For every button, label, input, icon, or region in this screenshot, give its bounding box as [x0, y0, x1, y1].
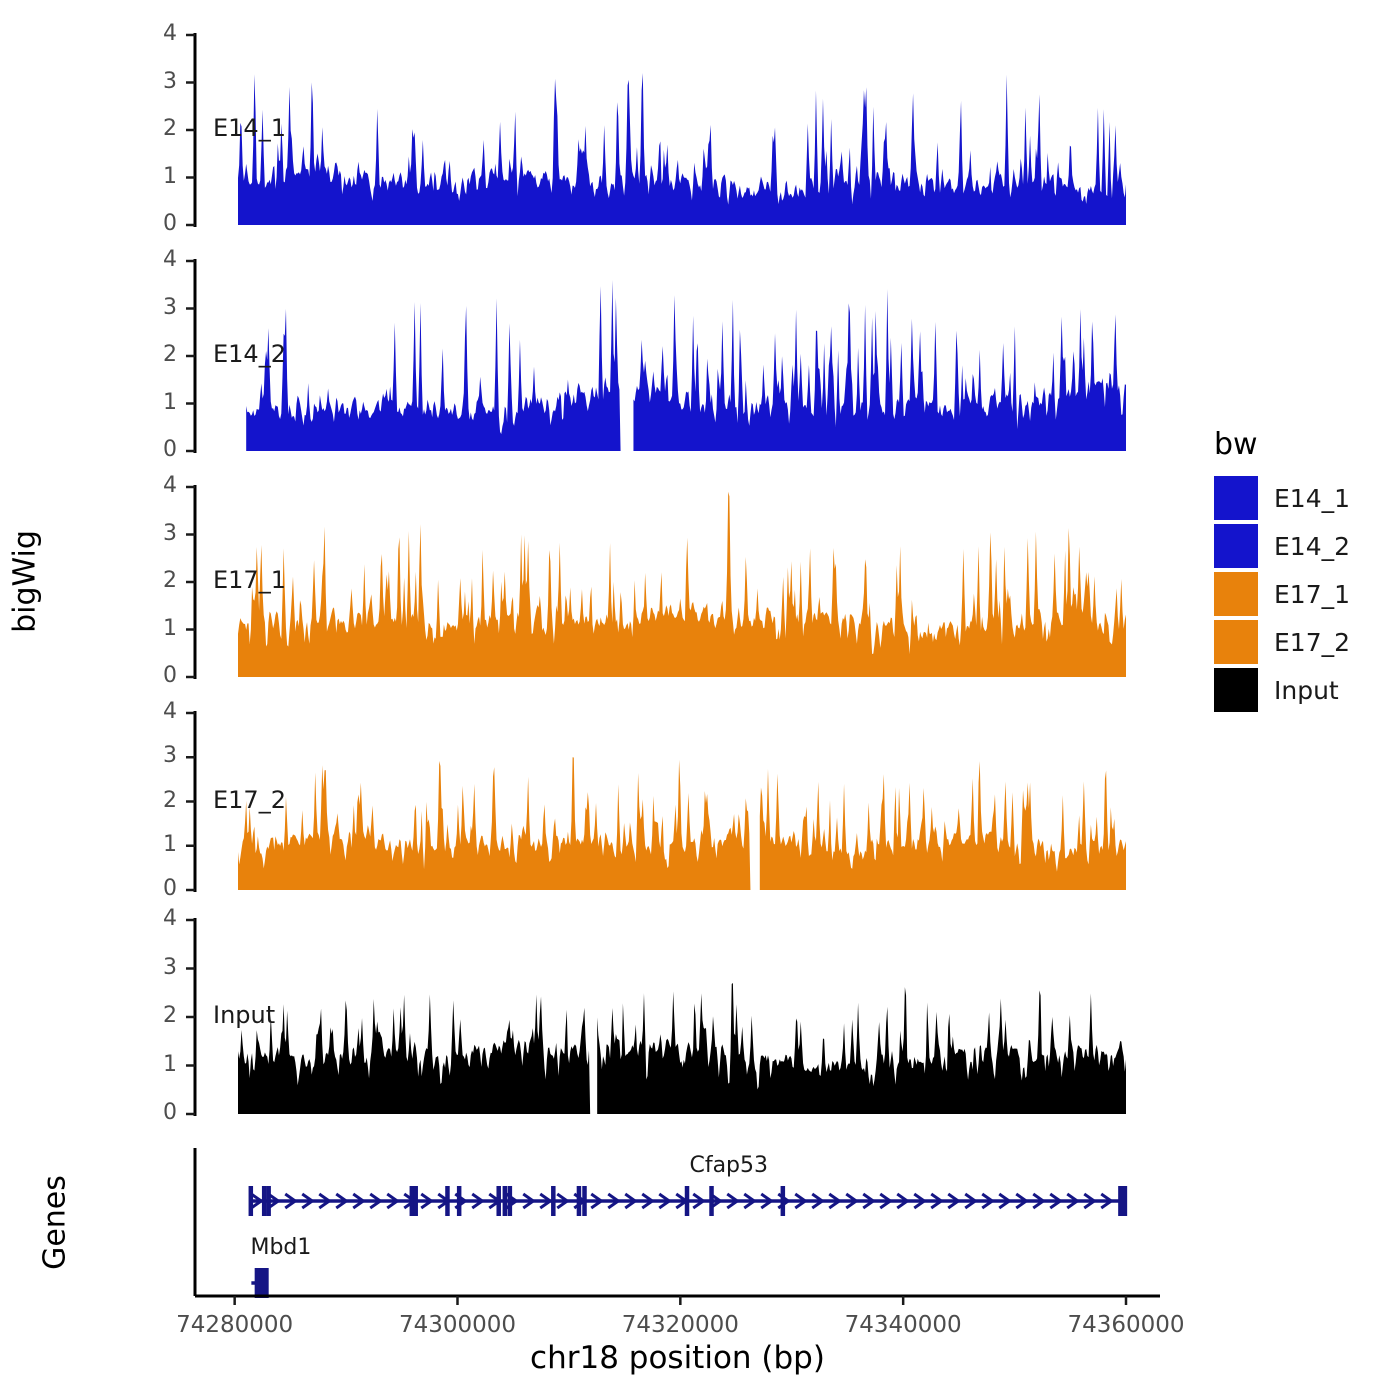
gene-strand-arrow: [727, 1194, 737, 1208]
genome-browser-figure: 01234E14_101234E14_201234E17_101234E17_2…: [0, 0, 1400, 1400]
gene-strand-arrow: [285, 1194, 295, 1208]
gene-exon: [582, 1186, 587, 1216]
y-axis-tick-label: 4: [131, 473, 177, 498]
gene-strand-arrow: [1084, 1194, 1094, 1208]
x-axis-tick-label: 74320000: [580, 1312, 780, 1338]
gene-exon: [1118, 1186, 1127, 1216]
gene-strand-arrow: [778, 1194, 788, 1208]
y-axis-tick-label: 3: [131, 295, 177, 320]
y-axis-tick-label: 2: [131, 116, 177, 141]
gene-strand-arrow: [1016, 1194, 1026, 1208]
legend: bw E14_1E14_2E17_1E17_2Input: [1214, 430, 1394, 714]
gene-strand-arrow: [404, 1194, 414, 1208]
y-axis-tick-label: 4: [131, 247, 177, 272]
gene-exon: [685, 1186, 690, 1216]
legend-swatch-e14_2: [1214, 524, 1258, 568]
gene-exon: [709, 1186, 714, 1216]
y-axis-tick-label: 3: [131, 521, 177, 546]
gene-exon: [551, 1186, 556, 1216]
gene-strand-arrow: [693, 1194, 703, 1208]
y-axis-tick-label: 2: [131, 788, 177, 813]
gene-exon: [262, 1186, 267, 1216]
legend-swatch-e17_1: [1214, 572, 1258, 616]
gene-strand-arrow: [353, 1194, 363, 1208]
track-label-e14_2: E14_2: [213, 340, 286, 368]
gene-label-mbd1: Mbd1: [250, 1235, 311, 1260]
x-axis: [0, 0, 1400, 1400]
gene-strand-arrow: [659, 1194, 669, 1208]
coverage-area: [238, 73, 1126, 225]
y-axis-tick-label: 1: [131, 390, 177, 415]
y-axis-tick-label: 1: [131, 616, 177, 641]
gene-strand-arrow: [625, 1194, 635, 1208]
y-axis-tick-label: 4: [131, 21, 177, 46]
gene-strand-arrow: [846, 1194, 856, 1208]
gene-exon: [266, 1186, 271, 1216]
x-axis-tick-label: 74360000: [1026, 1312, 1226, 1338]
gene-exon: [445, 1186, 450, 1216]
gene-strand-arrow: [1050, 1194, 1060, 1208]
gene-strand-arrow: [506, 1194, 516, 1208]
gene-strand-arrow: [897, 1194, 907, 1208]
gene-label-cfap53: Cfap53: [689, 1153, 768, 1178]
gene-strand-arrow: [302, 1194, 312, 1208]
gene-exon: [508, 1186, 513, 1216]
track-label-e17_1: E17_1: [213, 566, 286, 594]
track-label-e14_1: E14_1: [213, 114, 286, 142]
x-axis-tick-label: 74300000: [357, 1312, 557, 1338]
legend-swatch-e14_1: [1214, 476, 1258, 520]
legend-item-e14_1[interactable]: E14_1: [1214, 474, 1394, 522]
track-panel-input: [0, 0, 1400, 1400]
legend-label: E17_2: [1274, 630, 1350, 655]
y-axis-tick-label: 1: [131, 1052, 177, 1077]
gene-strand-arrow: [965, 1194, 975, 1208]
genes-axis-title: Genes: [38, 1123, 73, 1323]
gene-strand-arrow: [540, 1194, 550, 1208]
gene-exon: [503, 1186, 508, 1216]
legend-label: E17_1: [1274, 582, 1350, 607]
y-axis-tick-label: 4: [131, 699, 177, 724]
coverage-area: [246, 280, 1126, 451]
y-axis-tick-label: 0: [131, 663, 177, 688]
y-axis-tick-label: 1: [131, 832, 177, 857]
y-axis-tick-label: 0: [131, 1100, 177, 1125]
legend-item-e17_2[interactable]: E17_2: [1214, 618, 1394, 666]
y-axis-tick-label: 4: [131, 906, 177, 931]
gene-strand-arrow: [251, 1194, 261, 1208]
legend-title: bw: [1214, 430, 1394, 460]
track-label-e17_2: E17_2: [213, 786, 286, 814]
gene-strand-arrow: [710, 1194, 720, 1208]
gene-exon: [577, 1186, 582, 1216]
gene-strand-arrow: [1033, 1194, 1043, 1208]
y-axis-tick-label: 0: [131, 437, 177, 462]
y-axis-tick-label: 2: [131, 342, 177, 367]
gene-strand-arrow: [455, 1194, 465, 1208]
track-panel-e14_2: [0, 0, 1400, 1400]
y-axis-title: bigWig: [8, 452, 43, 712]
gene-strand-arrow: [438, 1194, 448, 1208]
gene-exon: [260, 1268, 269, 1298]
gene-strand-arrow: [608, 1194, 618, 1208]
gene-exon: [413, 1186, 418, 1216]
gene-strand-arrow: [744, 1194, 754, 1208]
gene-exon: [496, 1186, 501, 1216]
gene-strand-arrow: [574, 1194, 584, 1208]
x-axis-tick-label: 74280000: [135, 1312, 335, 1338]
gene-strand-arrow: [387, 1194, 397, 1208]
gene-strand-arrow: [1067, 1194, 1077, 1208]
legend-label: E14_1: [1274, 486, 1350, 511]
gene-exon: [410, 1186, 415, 1216]
gene-strand-arrow: [421, 1194, 431, 1208]
legend-label: E14_2: [1274, 534, 1350, 559]
y-axis-tick-label: 2: [131, 1003, 177, 1028]
y-axis-tick-label: 3: [131, 743, 177, 768]
gene-strand-arrow: [319, 1194, 329, 1208]
gene-strand-arrow: [1101, 1194, 1111, 1208]
legend-entries: E14_1E14_2E17_1E17_2Input: [1214, 474, 1394, 714]
gene-exon: [781, 1186, 786, 1216]
legend-item-e14_2[interactable]: E14_2: [1214, 522, 1394, 570]
gene-strand-arrow: [489, 1194, 499, 1208]
gene-strand-arrow: [982, 1194, 992, 1208]
gene-strand-arrow: [591, 1194, 601, 1208]
gene-strand-arrow: [472, 1194, 482, 1208]
gene-strand-arrow: [948, 1194, 958, 1208]
gene-exon: [457, 1186, 462, 1216]
gene-exon: [249, 1186, 254, 1216]
gene-strand-arrow: [761, 1194, 771, 1208]
x-axis-title: chr18 position (bp): [195, 1340, 1160, 1376]
legend-label: Input: [1274, 678, 1339, 703]
gene-strand-arrow: [863, 1194, 873, 1208]
gene-exon: [255, 1268, 264, 1298]
track-panel-e17_1: [0, 0, 1400, 1400]
track-panel-e14_1: [0, 0, 1400, 1400]
y-axis-tick-label: 3: [131, 69, 177, 94]
gene-strand-arrow: [795, 1194, 805, 1208]
gene-strand-arrow: [914, 1194, 924, 1208]
gene-strand-arrow: [999, 1194, 1009, 1208]
gene-strand-arrow: [812, 1194, 822, 1208]
coverage-area: [238, 983, 1126, 1114]
legend-swatch-input: [1214, 668, 1258, 712]
legend-item-input[interactable]: Input: [1214, 666, 1394, 714]
y-axis-tick-label: 1: [131, 164, 177, 189]
gene-strand-arrow: [336, 1194, 346, 1208]
gene-strand-arrow: [370, 1194, 380, 1208]
genes-panel: [0, 0, 1400, 1400]
coverage-area: [238, 757, 1126, 890]
track-label-input: Input: [213, 1001, 275, 1029]
gene-strand-arrow: [829, 1194, 839, 1208]
coverage-area: [238, 492, 1126, 677]
track-panel-e17_2: [0, 0, 1400, 1400]
legend-item-e17_1[interactable]: E17_1: [1214, 570, 1394, 618]
gene-strand-arrow: [268, 1194, 278, 1208]
y-axis-tick-label: 0: [131, 211, 177, 236]
gene-strand-arrow: [557, 1194, 567, 1208]
gene-strand-arrow: [880, 1194, 890, 1208]
gene-strand-arrow: [931, 1194, 941, 1208]
y-axis-tick-label: 2: [131, 568, 177, 593]
gene-strand-arrow: [676, 1194, 686, 1208]
gene-strand-arrow: [523, 1194, 533, 1208]
y-axis-tick-label: 0: [131, 876, 177, 901]
gene-strand-arrow: [642, 1194, 652, 1208]
y-axis-tick-label: 3: [131, 955, 177, 980]
legend-swatch-e17_2: [1214, 620, 1258, 664]
x-axis-tick-label: 74340000: [803, 1312, 1003, 1338]
